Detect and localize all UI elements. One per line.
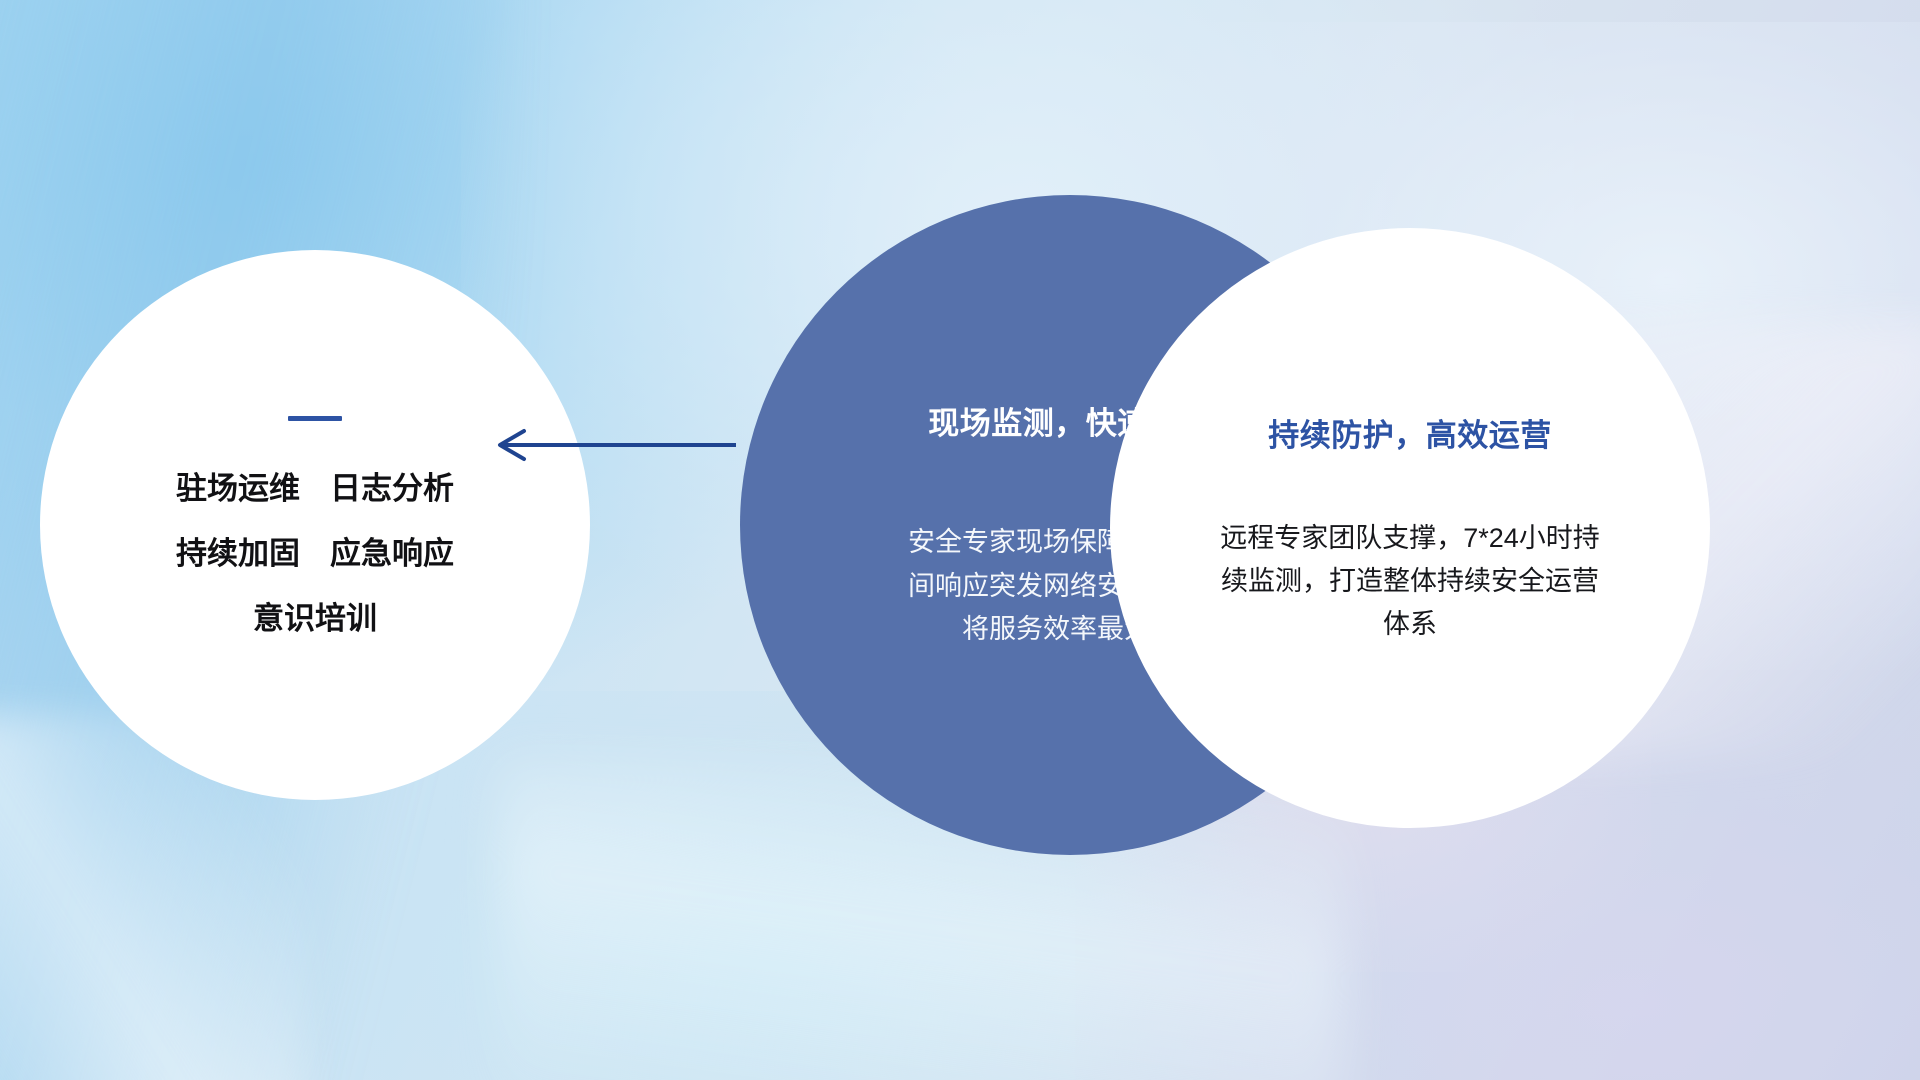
service-item: 持续加固 [176, 538, 300, 569]
remote-operations-circle[interactable]: 持续防护，高效运营 远程专家团队支撑，7*24小时持续监测，打造整体持续安全运营… [1110, 228, 1710, 828]
service-item: 意识培训 [253, 603, 377, 634]
services-circle[interactable]: 驻场运维 日志分析 持续加固 应急响应 意识培训 [40, 250, 590, 800]
services-row: 意识培训 [176, 603, 454, 634]
service-item: 驻场运维 [176, 473, 300, 504]
services-row: 驻场运维 日志分析 [176, 473, 454, 504]
services-row: 持续加固 应急响应 [176, 538, 454, 569]
divider-dash [288, 416, 342, 421]
service-item: 日志分析 [330, 473, 454, 504]
service-item: 应急响应 [330, 538, 454, 569]
services-list: 驻场运维 日志分析 持续加固 应急响应 意识培训 [176, 473, 454, 634]
remote-title: 持续防护，高效运营 [1268, 410, 1552, 455]
remote-description: 远程专家团队支撑，7*24小时持续监测，打造整体持续安全运营体系 [1215, 517, 1605, 647]
diagram-stage: 驻场运维 日志分析 持续加固 应急响应 意识培训 现场监测，快速响应 安全专家现… [0, 0, 1920, 1080]
flow-arrow-right-to-left [480, 410, 740, 480]
